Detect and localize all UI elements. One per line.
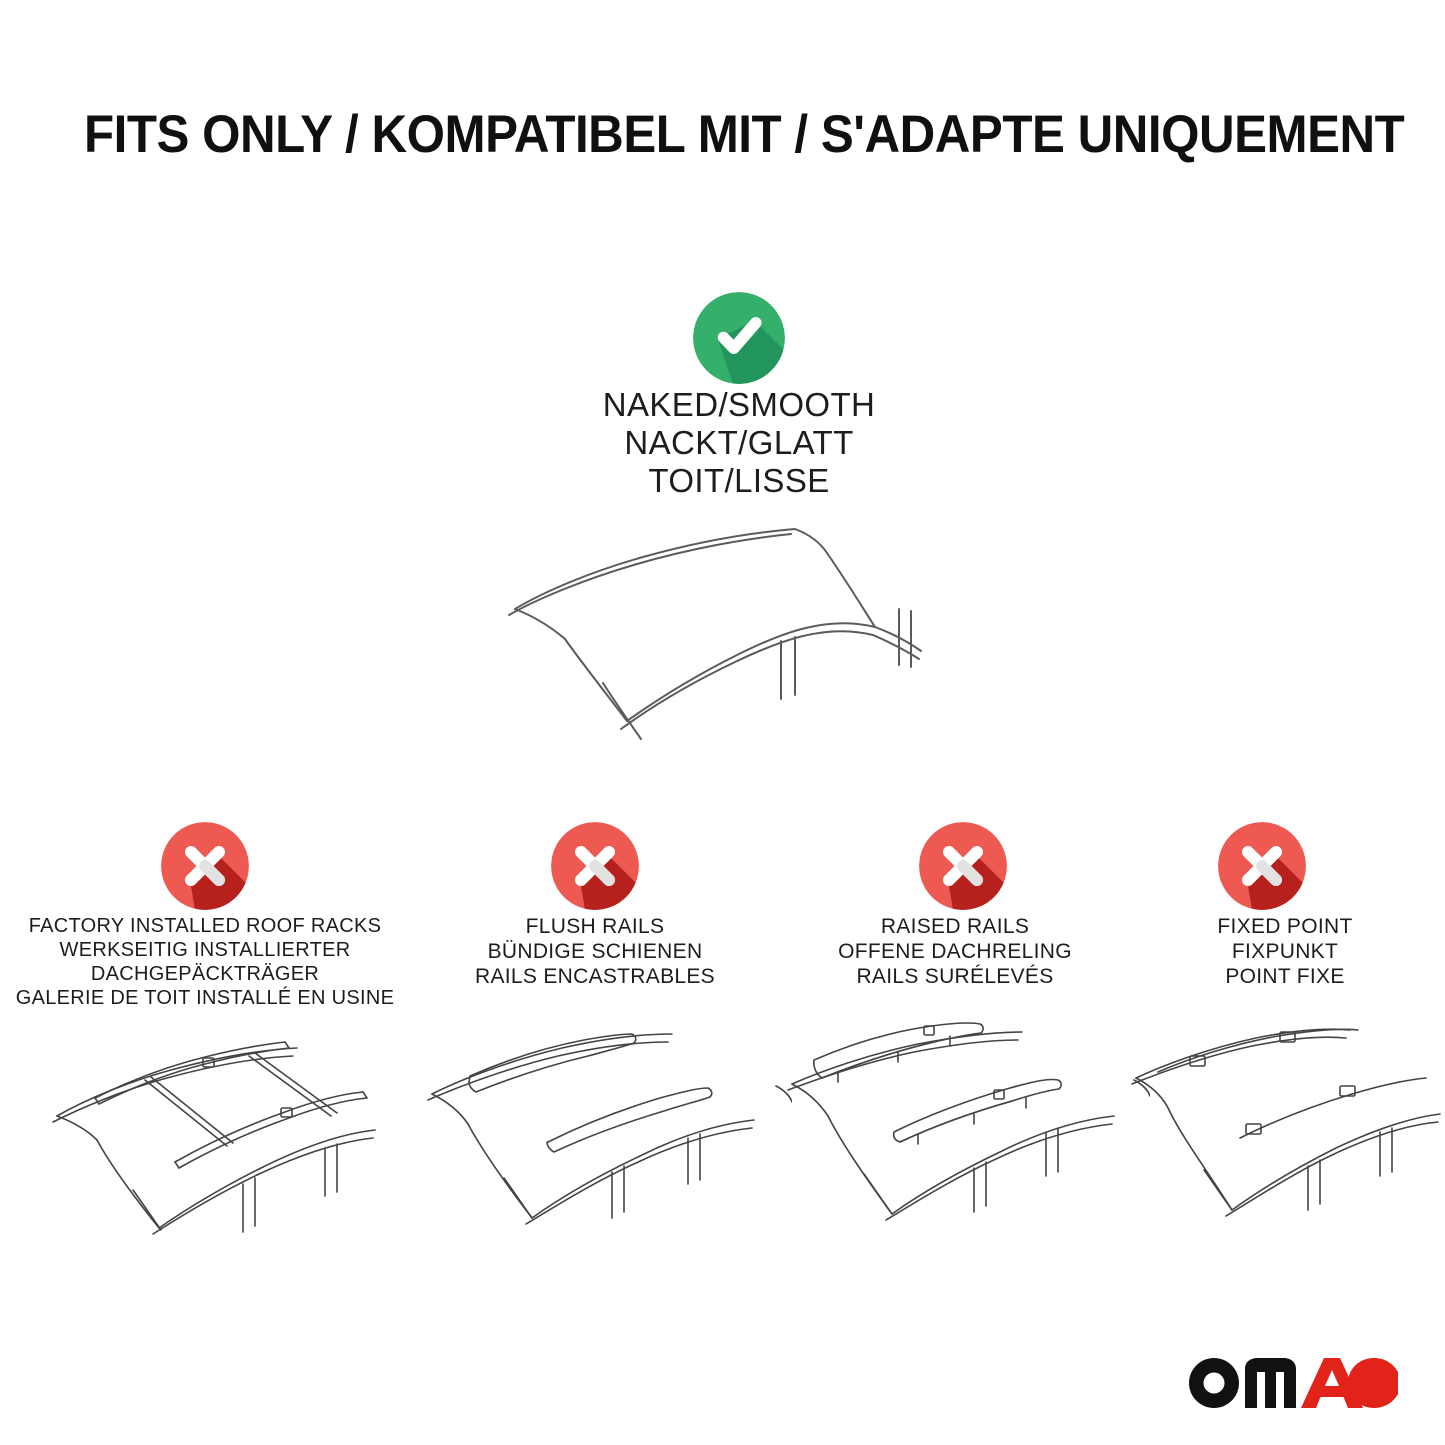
caption-line: NAKED/SMOOTH bbox=[489, 386, 989, 424]
caption-line: RAILS ENCASTRABLES bbox=[420, 964, 770, 989]
caption-line: GALERIE DE TOIT INSTALLÉ EN USINE bbox=[10, 986, 400, 1010]
car-roof-naked-smooth-illustration bbox=[455, 487, 1015, 757]
caption-line: FIXED POINT bbox=[1135, 914, 1435, 939]
check-circle-icon bbox=[693, 292, 785, 384]
caption-line: NACKT/GLATT bbox=[489, 424, 989, 462]
caption-line: FACTORY INSTALLED ROOF RACKS bbox=[10, 914, 400, 938]
incompatible-caption-fixed-point: FIXED POINT FIXPUNKT POINT FIXE bbox=[1135, 914, 1435, 989]
caption-line: BÜNDIGE SCHIENEN bbox=[420, 939, 770, 964]
caption-line: RAILS SURÉLEVÉS bbox=[775, 964, 1135, 989]
omac-logo bbox=[1188, 1352, 1398, 1414]
cross-circle-icon bbox=[161, 822, 249, 910]
cross-circle-icon bbox=[1218, 822, 1306, 910]
caption-line: WERKSEITIG INSTALLIERTER bbox=[10, 938, 400, 962]
car-roof-flush-rails-illustration bbox=[420, 1020, 792, 1235]
cross-circle-icon bbox=[919, 822, 1007, 910]
compatibility-infographic: FITS ONLY / KOMPATIBEL MIT / S'ADAPTE UN… bbox=[0, 0, 1445, 1445]
cross-circle-icon bbox=[551, 822, 639, 910]
car-roof-fixed-point-illustration bbox=[1118, 1020, 1443, 1235]
caption-line: OFFENE DACHRELING bbox=[775, 939, 1135, 964]
incompatible-caption-flush-rails: FLUSH RAILS BÜNDIGE SCHIENEN RAILS ENCAS… bbox=[420, 914, 770, 989]
caption-line: DACHGEPÄCKTRÄGER bbox=[10, 962, 400, 986]
page-title: FITS ONLY / KOMPATIBEL MIT / S'ADAPTE UN… bbox=[84, 104, 1284, 166]
car-roof-factory-racks-illustration bbox=[35, 1020, 407, 1235]
compatible-caption: NAKED/SMOOTH NACKT/GLATT TOIT/LISSE bbox=[489, 386, 989, 500]
caption-line: FLUSH RAILS bbox=[420, 914, 770, 939]
caption-line: POINT FIXE bbox=[1135, 964, 1435, 989]
caption-line: RAISED RAILS bbox=[775, 914, 1135, 939]
incompatible-caption-raised-rails: RAISED RAILS OFFENE DACHRELING RAILS SUR… bbox=[775, 914, 1135, 989]
incompatible-caption-factory-installed-roof-racks: FACTORY INSTALLED ROOF RACKS WERKSEITIG … bbox=[10, 914, 400, 1010]
caption-line: FIXPUNKT bbox=[1135, 939, 1435, 964]
car-roof-raised-rails-illustration bbox=[778, 1020, 1150, 1235]
